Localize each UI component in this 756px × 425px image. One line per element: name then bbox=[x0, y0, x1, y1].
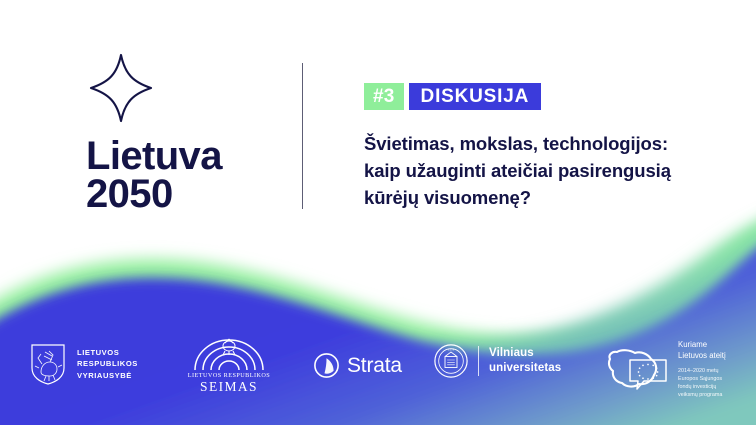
session-badges: #3 DISKUSIJA bbox=[364, 83, 541, 110]
logo-strata: Strata bbox=[313, 352, 402, 379]
logo-gov-label: LIETUVOS RESPUBLIKOS VYRIAUSYBĖ bbox=[77, 347, 138, 382]
brand-wordmark: Lietuva 2050 bbox=[86, 138, 286, 213]
partner-logo-strip: LIETUVOS RESPUBLIKOS VYRIAUSYBĖ LIETUVOS… bbox=[0, 334, 756, 400]
brand-line-2: 2050 bbox=[86, 176, 286, 214]
session-title: Švietimas, mokslas, technologijos: kaip … bbox=[364, 130, 704, 212]
logo-eu-text: Kuriame Lietuvos ateitį 2014–2020 metų E… bbox=[678, 340, 726, 399]
brand-lockup: Lietuva 2050 bbox=[86, 52, 286, 213]
logo-eu-funds: Kuriame Lietuvos ateitį 2014–2020 metų E… bbox=[604, 340, 726, 399]
vytis-coat-of-arms-icon bbox=[28, 342, 68, 386]
logo-seimas-line-1: LIETUVOS RESPUBLIKOS bbox=[188, 372, 270, 379]
logo-strata-label: Strata bbox=[347, 354, 402, 378]
strata-circle-icon bbox=[313, 352, 340, 379]
logo-vu-separator bbox=[478, 346, 479, 376]
logo-vu-label: Vilniaus universitetas bbox=[489, 346, 561, 375]
lithuania-map-eu-flag-icon bbox=[604, 343, 670, 395]
logo-lietuvos-respublikos-seimas: LIETUVOS RESPUBLIKOS SEIMAS bbox=[187, 336, 271, 394]
logo-lietuvos-respublikos-vyriausybe: LIETUVOS RESPUBLIKOS VYRIAUSYBĖ bbox=[28, 342, 138, 386]
vertical-divider bbox=[302, 63, 303, 209]
seimas-arches-icon bbox=[187, 336, 271, 370]
vu-seal-icon: 1579 bbox=[434, 344, 468, 378]
logo-eu-subtitle: 2014–2020 metų Europos Sąjungos fondų in… bbox=[678, 367, 726, 399]
session-number-badge: #3 bbox=[364, 83, 404, 110]
svg-text:1579: 1579 bbox=[448, 347, 455, 351]
logo-eu-title: Kuriame Lietuvos ateitį bbox=[678, 340, 726, 362]
logo-vilniaus-universitetas: 1579 Vilniaus universitetas bbox=[434, 344, 561, 378]
presentation-slide: Lietuva 2050 #3 DISKUSIJA Švietimas, mok… bbox=[0, 0, 756, 425]
logo-seimas-line-2: SEIMAS bbox=[200, 379, 258, 394]
four-point-star-icon bbox=[88, 52, 154, 124]
session-type-badge: DISKUSIJA bbox=[409, 83, 542, 110]
